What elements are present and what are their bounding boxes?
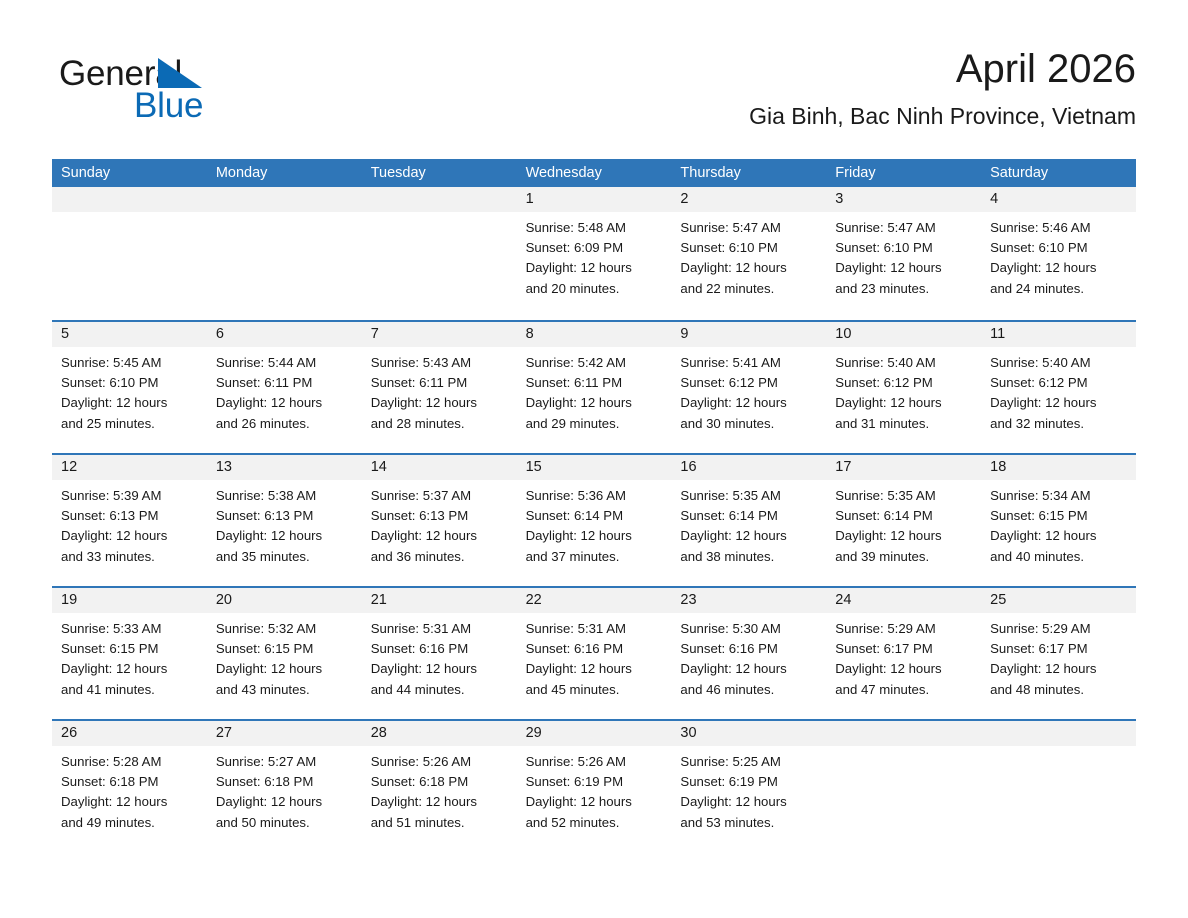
day-number: 13 (207, 455, 362, 480)
daylight-text-line1: Daylight: 12 hours (526, 792, 663, 812)
sunrise-text: Sunrise: 5:45 AM (61, 353, 198, 373)
day-cell[interactable]: 30Sunrise: 5:25 AMSunset: 6:19 PMDayligh… (671, 721, 826, 852)
day-cell[interactable]: 9Sunrise: 5:41 AMSunset: 6:12 PMDaylight… (671, 322, 826, 453)
day-cell[interactable]: 2Sunrise: 5:47 AMSunset: 6:10 PMDaylight… (671, 187, 826, 320)
daylight-text-line1: Daylight: 12 hours (990, 526, 1127, 546)
sunrise-text: Sunrise: 5:40 AM (835, 353, 972, 373)
daylight-text-line1: Daylight: 12 hours (526, 393, 663, 413)
day-cell[interactable]: 19Sunrise: 5:33 AMSunset: 6:15 PMDayligh… (52, 588, 207, 719)
sunrise-text: Sunrise: 5:27 AM (216, 752, 353, 772)
day-number: 7 (362, 322, 517, 347)
day-cell[interactable]: 7Sunrise: 5:43 AMSunset: 6:11 PMDaylight… (362, 322, 517, 453)
day-details: Sunrise: 5:37 AMSunset: 6:13 PMDaylight:… (362, 480, 517, 567)
sunset-text: Sunset: 6:13 PM (216, 506, 353, 526)
sunset-text: Sunset: 6:17 PM (990, 639, 1127, 659)
sunrise-text: Sunrise: 5:34 AM (990, 486, 1127, 506)
daylight-text-line2: and 23 minutes. (835, 279, 972, 299)
sunset-text: Sunset: 6:09 PM (526, 238, 663, 258)
day-number: 12 (52, 455, 207, 480)
day-number: 22 (517, 588, 672, 613)
sunset-text: Sunset: 6:10 PM (61, 373, 198, 393)
daylight-text-line2: and 38 minutes. (680, 547, 817, 567)
day-number: 3 (826, 187, 981, 212)
page-subtitle: Gia Binh, Bac Ninh Province, Vietnam (749, 102, 1136, 130)
sunset-text: Sunset: 6:16 PM (371, 639, 508, 659)
day-cell[interactable]: 4Sunrise: 5:46 AMSunset: 6:10 PMDaylight… (981, 187, 1136, 320)
day-number: 21 (362, 588, 517, 613)
daylight-text-line2: and 53 minutes. (680, 813, 817, 833)
daylight-text-line2: and 25 minutes. (61, 414, 198, 434)
day-cell[interactable]: 24Sunrise: 5:29 AMSunset: 6:17 PMDayligh… (826, 588, 981, 719)
day-cell[interactable]: 13Sunrise: 5:38 AMSunset: 6:13 PMDayligh… (207, 455, 362, 586)
day-number: 24 (826, 588, 981, 613)
daylight-text-line2: and 44 minutes. (371, 680, 508, 700)
daylight-text-line1: Daylight: 12 hours (680, 659, 817, 679)
calendar-week-row: 12Sunrise: 5:39 AMSunset: 6:13 PMDayligh… (52, 453, 1136, 586)
daylight-text-line2: and 39 minutes. (835, 547, 972, 567)
sunset-text: Sunset: 6:18 PM (216, 772, 353, 792)
day-number (52, 187, 207, 212)
sunset-text: Sunset: 6:12 PM (680, 373, 817, 393)
sunset-text: Sunset: 6:10 PM (835, 238, 972, 258)
calendar-week-row: 26Sunrise: 5:28 AMSunset: 6:18 PMDayligh… (52, 719, 1136, 852)
calendar-weeks: 1Sunrise: 5:48 AMSunset: 6:09 PMDaylight… (52, 187, 1136, 852)
day-details: Sunrise: 5:45 AMSunset: 6:10 PMDaylight:… (52, 347, 207, 434)
page-title: April 2026 (749, 44, 1136, 94)
day-details: Sunrise: 5:35 AMSunset: 6:14 PMDaylight:… (671, 480, 826, 567)
sunset-text: Sunset: 6:15 PM (216, 639, 353, 659)
daylight-text-line2: and 41 minutes. (61, 680, 198, 700)
daylight-text-line1: Daylight: 12 hours (526, 526, 663, 546)
daylight-text-line2: and 24 minutes. (990, 279, 1127, 299)
day-number: 27 (207, 721, 362, 746)
daylight-text-line1: Daylight: 12 hours (61, 393, 198, 413)
day-number: 6 (207, 322, 362, 347)
daylight-text-line1: Daylight: 12 hours (61, 526, 198, 546)
day-number: 17 (826, 455, 981, 480)
day-cell[interactable]: 21Sunrise: 5:31 AMSunset: 6:16 PMDayligh… (362, 588, 517, 719)
sunset-text: Sunset: 6:18 PM (371, 772, 508, 792)
day-details: Sunrise: 5:46 AMSunset: 6:10 PMDaylight:… (981, 212, 1136, 299)
day-number: 29 (517, 721, 672, 746)
sunrise-text: Sunrise: 5:39 AM (61, 486, 198, 506)
day-cell[interactable]: 1Sunrise: 5:48 AMSunset: 6:09 PMDaylight… (517, 187, 672, 320)
day-cell[interactable]: 23Sunrise: 5:30 AMSunset: 6:16 PMDayligh… (671, 588, 826, 719)
day-number: 25 (981, 588, 1136, 613)
day-number: 4 (981, 187, 1136, 212)
daylight-text-line1: Daylight: 12 hours (990, 258, 1127, 278)
day-number: 8 (517, 322, 672, 347)
day-number (826, 721, 981, 746)
day-cell[interactable]: 25Sunrise: 5:29 AMSunset: 6:17 PMDayligh… (981, 588, 1136, 719)
daylight-text-line1: Daylight: 12 hours (216, 393, 353, 413)
daylight-text-line1: Daylight: 12 hours (835, 258, 972, 278)
day-number: 20 (207, 588, 362, 613)
day-number: 14 (362, 455, 517, 480)
logo-triangle-icon (158, 58, 202, 88)
weekday-header-sunday: Sunday (52, 159, 207, 187)
day-cell-empty (207, 187, 362, 320)
daylight-text-line2: and 31 minutes. (835, 414, 972, 434)
daylight-text-line2: and 29 minutes. (526, 414, 663, 434)
weekday-header-monday: Monday (207, 159, 362, 187)
daylight-text-line1: Daylight: 12 hours (216, 659, 353, 679)
day-cell[interactable]: 3Sunrise: 5:47 AMSunset: 6:10 PMDaylight… (826, 187, 981, 320)
sunrise-text: Sunrise: 5:31 AM (526, 619, 663, 639)
sunset-text: Sunset: 6:14 PM (680, 506, 817, 526)
daylight-text-line2: and 52 minutes. (526, 813, 663, 833)
daylight-text-line1: Daylight: 12 hours (371, 393, 508, 413)
day-cell[interactable]: 16Sunrise: 5:35 AMSunset: 6:14 PMDayligh… (671, 455, 826, 586)
daylight-text-line1: Daylight: 12 hours (990, 659, 1127, 679)
day-cell[interactable]: 20Sunrise: 5:32 AMSunset: 6:15 PMDayligh… (207, 588, 362, 719)
day-cell[interactable]: 10Sunrise: 5:40 AMSunset: 6:12 PMDayligh… (826, 322, 981, 453)
sunset-text: Sunset: 6:11 PM (216, 373, 353, 393)
sunrise-text: Sunrise: 5:41 AM (680, 353, 817, 373)
day-details: Sunrise: 5:38 AMSunset: 6:13 PMDaylight:… (207, 480, 362, 567)
sunrise-text: Sunrise: 5:35 AM (835, 486, 972, 506)
daylight-text-line2: and 40 minutes. (990, 547, 1127, 567)
weekday-header-tuesday: Tuesday (362, 159, 517, 187)
day-cell[interactable]: 5Sunrise: 5:45 AMSunset: 6:10 PMDaylight… (52, 322, 207, 453)
day-cell[interactable]: 14Sunrise: 5:37 AMSunset: 6:13 PMDayligh… (362, 455, 517, 586)
day-details: Sunrise: 5:44 AMSunset: 6:11 PMDaylight:… (207, 347, 362, 434)
day-cell-empty (362, 187, 517, 320)
sunset-text: Sunset: 6:19 PM (526, 772, 663, 792)
sunset-text: Sunset: 6:15 PM (990, 506, 1127, 526)
daylight-text-line1: Daylight: 12 hours (990, 393, 1127, 413)
weekday-header-friday: Friday (826, 159, 981, 187)
day-number: 15 (517, 455, 672, 480)
sunset-text: Sunset: 6:15 PM (61, 639, 198, 659)
daylight-text-line2: and 36 minutes. (371, 547, 508, 567)
weekday-header-row: Sunday Monday Tuesday Wednesday Thursday… (52, 159, 1136, 187)
sunrise-text: Sunrise: 5:33 AM (61, 619, 198, 639)
day-details: Sunrise: 5:41 AMSunset: 6:12 PMDaylight:… (671, 347, 826, 434)
day-number: 23 (671, 588, 826, 613)
sunrise-text: Sunrise: 5:26 AM (371, 752, 508, 772)
sunset-text: Sunset: 6:14 PM (835, 506, 972, 526)
day-details: Sunrise: 5:47 AMSunset: 6:10 PMDaylight:… (826, 212, 981, 299)
sunrise-text: Sunrise: 5:28 AM (61, 752, 198, 772)
daylight-text-line2: and 45 minutes. (526, 680, 663, 700)
daylight-text-line2: and 28 minutes. (371, 414, 508, 434)
sunrise-text: Sunrise: 5:37 AM (371, 486, 508, 506)
day-cell[interactable]: 6Sunrise: 5:44 AMSunset: 6:11 PMDaylight… (207, 322, 362, 453)
daylight-text-line1: Daylight: 12 hours (680, 792, 817, 812)
daylight-text-line2: and 46 minutes. (680, 680, 817, 700)
day-cell[interactable]: 8Sunrise: 5:42 AMSunset: 6:11 PMDaylight… (517, 322, 672, 453)
sunset-text: Sunset: 6:11 PM (526, 373, 663, 393)
sunrise-text: Sunrise: 5:48 AM (526, 218, 663, 238)
sunrise-text: Sunrise: 5:26 AM (526, 752, 663, 772)
day-details: Sunrise: 5:47 AMSunset: 6:10 PMDaylight:… (671, 212, 826, 299)
sunrise-text: Sunrise: 5:35 AM (680, 486, 817, 506)
sunrise-text: Sunrise: 5:36 AM (526, 486, 663, 506)
day-cell-empty (52, 187, 207, 320)
sunset-text: Sunset: 6:19 PM (680, 772, 817, 792)
daylight-text-line2: and 47 minutes. (835, 680, 972, 700)
day-details: Sunrise: 5:31 AMSunset: 6:16 PMDaylight:… (362, 613, 517, 700)
day-number: 10 (826, 322, 981, 347)
day-cell[interactable]: 26Sunrise: 5:28 AMSunset: 6:18 PMDayligh… (52, 721, 207, 852)
day-cell[interactable]: 11Sunrise: 5:40 AMSunset: 6:12 PMDayligh… (981, 322, 1136, 453)
calendar-week-row: 5Sunrise: 5:45 AMSunset: 6:10 PMDaylight… (52, 320, 1136, 453)
daylight-text-line1: Daylight: 12 hours (680, 258, 817, 278)
calendar-page: General Blue April 2026 Gia Binh, Bac Ni… (0, 0, 1188, 918)
day-cell[interactable]: 28Sunrise: 5:26 AMSunset: 6:18 PMDayligh… (362, 721, 517, 852)
day-cell[interactable]: 27Sunrise: 5:27 AMSunset: 6:18 PMDayligh… (207, 721, 362, 852)
sunrise-text: Sunrise: 5:40 AM (990, 353, 1127, 373)
sunrise-text: Sunrise: 5:47 AM (835, 218, 972, 238)
sunrise-text: Sunrise: 5:43 AM (371, 353, 508, 373)
sunset-text: Sunset: 6:11 PM (371, 373, 508, 393)
daylight-text-line1: Daylight: 12 hours (371, 792, 508, 812)
day-number (981, 721, 1136, 746)
daylight-text-line2: and 32 minutes. (990, 414, 1127, 434)
day-details: Sunrise: 5:34 AMSunset: 6:15 PMDaylight:… (981, 480, 1136, 567)
sunrise-text: Sunrise: 5:46 AM (990, 218, 1127, 238)
general-blue-logo[interactable]: General Blue (59, 54, 319, 134)
sunset-text: Sunset: 6:12 PM (835, 373, 972, 393)
daylight-text-line1: Daylight: 12 hours (371, 526, 508, 546)
daylight-text-line2: and 37 minutes. (526, 547, 663, 567)
sunset-text: Sunset: 6:14 PM (526, 506, 663, 526)
day-number: 30 (671, 721, 826, 746)
sunrise-text: Sunrise: 5:29 AM (990, 619, 1127, 639)
daylight-text-line1: Daylight: 12 hours (216, 792, 353, 812)
sunrise-text: Sunrise: 5:32 AM (216, 619, 353, 639)
sunset-text: Sunset: 6:17 PM (835, 639, 972, 659)
day-details: Sunrise: 5:29 AMSunset: 6:17 PMDaylight:… (826, 613, 981, 700)
daylight-text-line2: and 20 minutes. (526, 279, 663, 299)
day-details: Sunrise: 5:30 AMSunset: 6:16 PMDaylight:… (671, 613, 826, 700)
day-details: Sunrise: 5:43 AMSunset: 6:11 PMDaylight:… (362, 347, 517, 434)
day-number: 1 (517, 187, 672, 212)
sunset-text: Sunset: 6:13 PM (371, 506, 508, 526)
day-details: Sunrise: 5:32 AMSunset: 6:15 PMDaylight:… (207, 613, 362, 700)
daylight-text-line1: Daylight: 12 hours (526, 659, 663, 679)
sunset-text: Sunset: 6:16 PM (680, 639, 817, 659)
day-cell[interactable]: 12Sunrise: 5:39 AMSunset: 6:13 PMDayligh… (52, 455, 207, 586)
calendar-week-row: 1Sunrise: 5:48 AMSunset: 6:09 PMDaylight… (52, 187, 1136, 320)
day-details: Sunrise: 5:42 AMSunset: 6:11 PMDaylight:… (517, 347, 672, 434)
day-number: 26 (52, 721, 207, 746)
day-details: Sunrise: 5:48 AMSunset: 6:09 PMDaylight:… (517, 212, 672, 299)
calendar-week-row: 19Sunrise: 5:33 AMSunset: 6:15 PMDayligh… (52, 586, 1136, 719)
daylight-text-line2: and 50 minutes. (216, 813, 353, 833)
day-details: Sunrise: 5:40 AMSunset: 6:12 PMDaylight:… (981, 347, 1136, 434)
sunset-text: Sunset: 6:12 PM (990, 373, 1127, 393)
sunrise-text: Sunrise: 5:47 AM (680, 218, 817, 238)
weekday-header-thursday: Thursday (671, 159, 826, 187)
daylight-text-line1: Daylight: 12 hours (835, 526, 972, 546)
sunrise-text: Sunrise: 5:30 AM (680, 619, 817, 639)
day-number: 2 (671, 187, 826, 212)
day-number: 28 (362, 721, 517, 746)
daylight-text-line1: Daylight: 12 hours (835, 659, 972, 679)
daylight-text-line2: and 30 minutes. (680, 414, 817, 434)
day-details: Sunrise: 5:26 AMSunset: 6:18 PMDaylight:… (362, 746, 517, 833)
day-number (207, 187, 362, 212)
daylight-text-line2: and 26 minutes. (216, 414, 353, 434)
daylight-text-line1: Daylight: 12 hours (216, 526, 353, 546)
day-number: 19 (52, 588, 207, 613)
sunset-text: Sunset: 6:18 PM (61, 772, 198, 792)
daylight-text-line2: and 33 minutes. (61, 547, 198, 567)
day-cell[interactable]: 15Sunrise: 5:36 AMSunset: 6:14 PMDayligh… (517, 455, 672, 586)
sunrise-text: Sunrise: 5:42 AM (526, 353, 663, 373)
day-details: Sunrise: 5:28 AMSunset: 6:18 PMDaylight:… (52, 746, 207, 833)
day-details: Sunrise: 5:35 AMSunset: 6:14 PMDaylight:… (826, 480, 981, 567)
day-cell[interactable]: 18Sunrise: 5:34 AMSunset: 6:15 PMDayligh… (981, 455, 1136, 586)
weekday-header-saturday: Saturday (981, 159, 1136, 187)
logo-word-blue: Blue (134, 86, 203, 126)
day-number: 5 (52, 322, 207, 347)
daylight-text-line1: Daylight: 12 hours (680, 393, 817, 413)
day-number (362, 187, 517, 212)
day-number: 9 (671, 322, 826, 347)
sunset-text: Sunset: 6:10 PM (990, 238, 1127, 258)
day-details: Sunrise: 5:39 AMSunset: 6:13 PMDaylight:… (52, 480, 207, 567)
daylight-text-line1: Daylight: 12 hours (61, 792, 198, 812)
sunrise-text: Sunrise: 5:38 AM (216, 486, 353, 506)
day-number: 16 (671, 455, 826, 480)
sunrise-text: Sunrise: 5:29 AM (835, 619, 972, 639)
day-number: 11 (981, 322, 1136, 347)
daylight-text-line1: Daylight: 12 hours (61, 659, 198, 679)
day-cell-empty (826, 721, 981, 852)
day-details: Sunrise: 5:29 AMSunset: 6:17 PMDaylight:… (981, 613, 1136, 700)
calendar-grid: Sunday Monday Tuesday Wednesday Thursday… (52, 159, 1136, 852)
daylight-text-line1: Daylight: 12 hours (835, 393, 972, 413)
daylight-text-line2: and 49 minutes. (61, 813, 198, 833)
daylight-text-line2: and 22 minutes. (680, 279, 817, 299)
day-details: Sunrise: 5:26 AMSunset: 6:19 PMDaylight:… (517, 746, 672, 833)
daylight-text-line2: and 51 minutes. (371, 813, 508, 833)
day-details: Sunrise: 5:31 AMSunset: 6:16 PMDaylight:… (517, 613, 672, 700)
daylight-text-line2: and 48 minutes. (990, 680, 1127, 700)
sunrise-text: Sunrise: 5:25 AM (680, 752, 817, 772)
day-details: Sunrise: 5:25 AMSunset: 6:19 PMDaylight:… (671, 746, 826, 833)
daylight-text-line1: Daylight: 12 hours (526, 258, 663, 278)
sunset-text: Sunset: 6:13 PM (61, 506, 198, 526)
sunrise-text: Sunrise: 5:44 AM (216, 353, 353, 373)
sunset-text: Sunset: 6:16 PM (526, 639, 663, 659)
daylight-text-line1: Daylight: 12 hours (680, 526, 817, 546)
page-header: General Blue April 2026 Gia Binh, Bac Ni… (52, 44, 1136, 144)
sunset-text: Sunset: 6:10 PM (680, 238, 817, 258)
day-details: Sunrise: 5:36 AMSunset: 6:14 PMDaylight:… (517, 480, 672, 567)
daylight-text-line1: Daylight: 12 hours (371, 659, 508, 679)
day-cell[interactable]: 29Sunrise: 5:26 AMSunset: 6:19 PMDayligh… (517, 721, 672, 852)
day-details: Sunrise: 5:33 AMSunset: 6:15 PMDaylight:… (52, 613, 207, 700)
daylight-text-line2: and 43 minutes. (216, 680, 353, 700)
sunrise-text: Sunrise: 5:31 AM (371, 619, 508, 639)
day-cell[interactable]: 22Sunrise: 5:31 AMSunset: 6:16 PMDayligh… (517, 588, 672, 719)
day-details: Sunrise: 5:27 AMSunset: 6:18 PMDaylight:… (207, 746, 362, 833)
day-number: 18 (981, 455, 1136, 480)
day-cell[interactable]: 17Sunrise: 5:35 AMSunset: 6:14 PMDayligh… (826, 455, 981, 586)
weekday-header-wednesday: Wednesday (517, 159, 672, 187)
day-details: Sunrise: 5:40 AMSunset: 6:12 PMDaylight:… (826, 347, 981, 434)
daylight-text-line2: and 35 minutes. (216, 547, 353, 567)
day-cell-empty (981, 721, 1136, 852)
title-block: April 2026 Gia Binh, Bac Ninh Province, … (749, 44, 1136, 130)
